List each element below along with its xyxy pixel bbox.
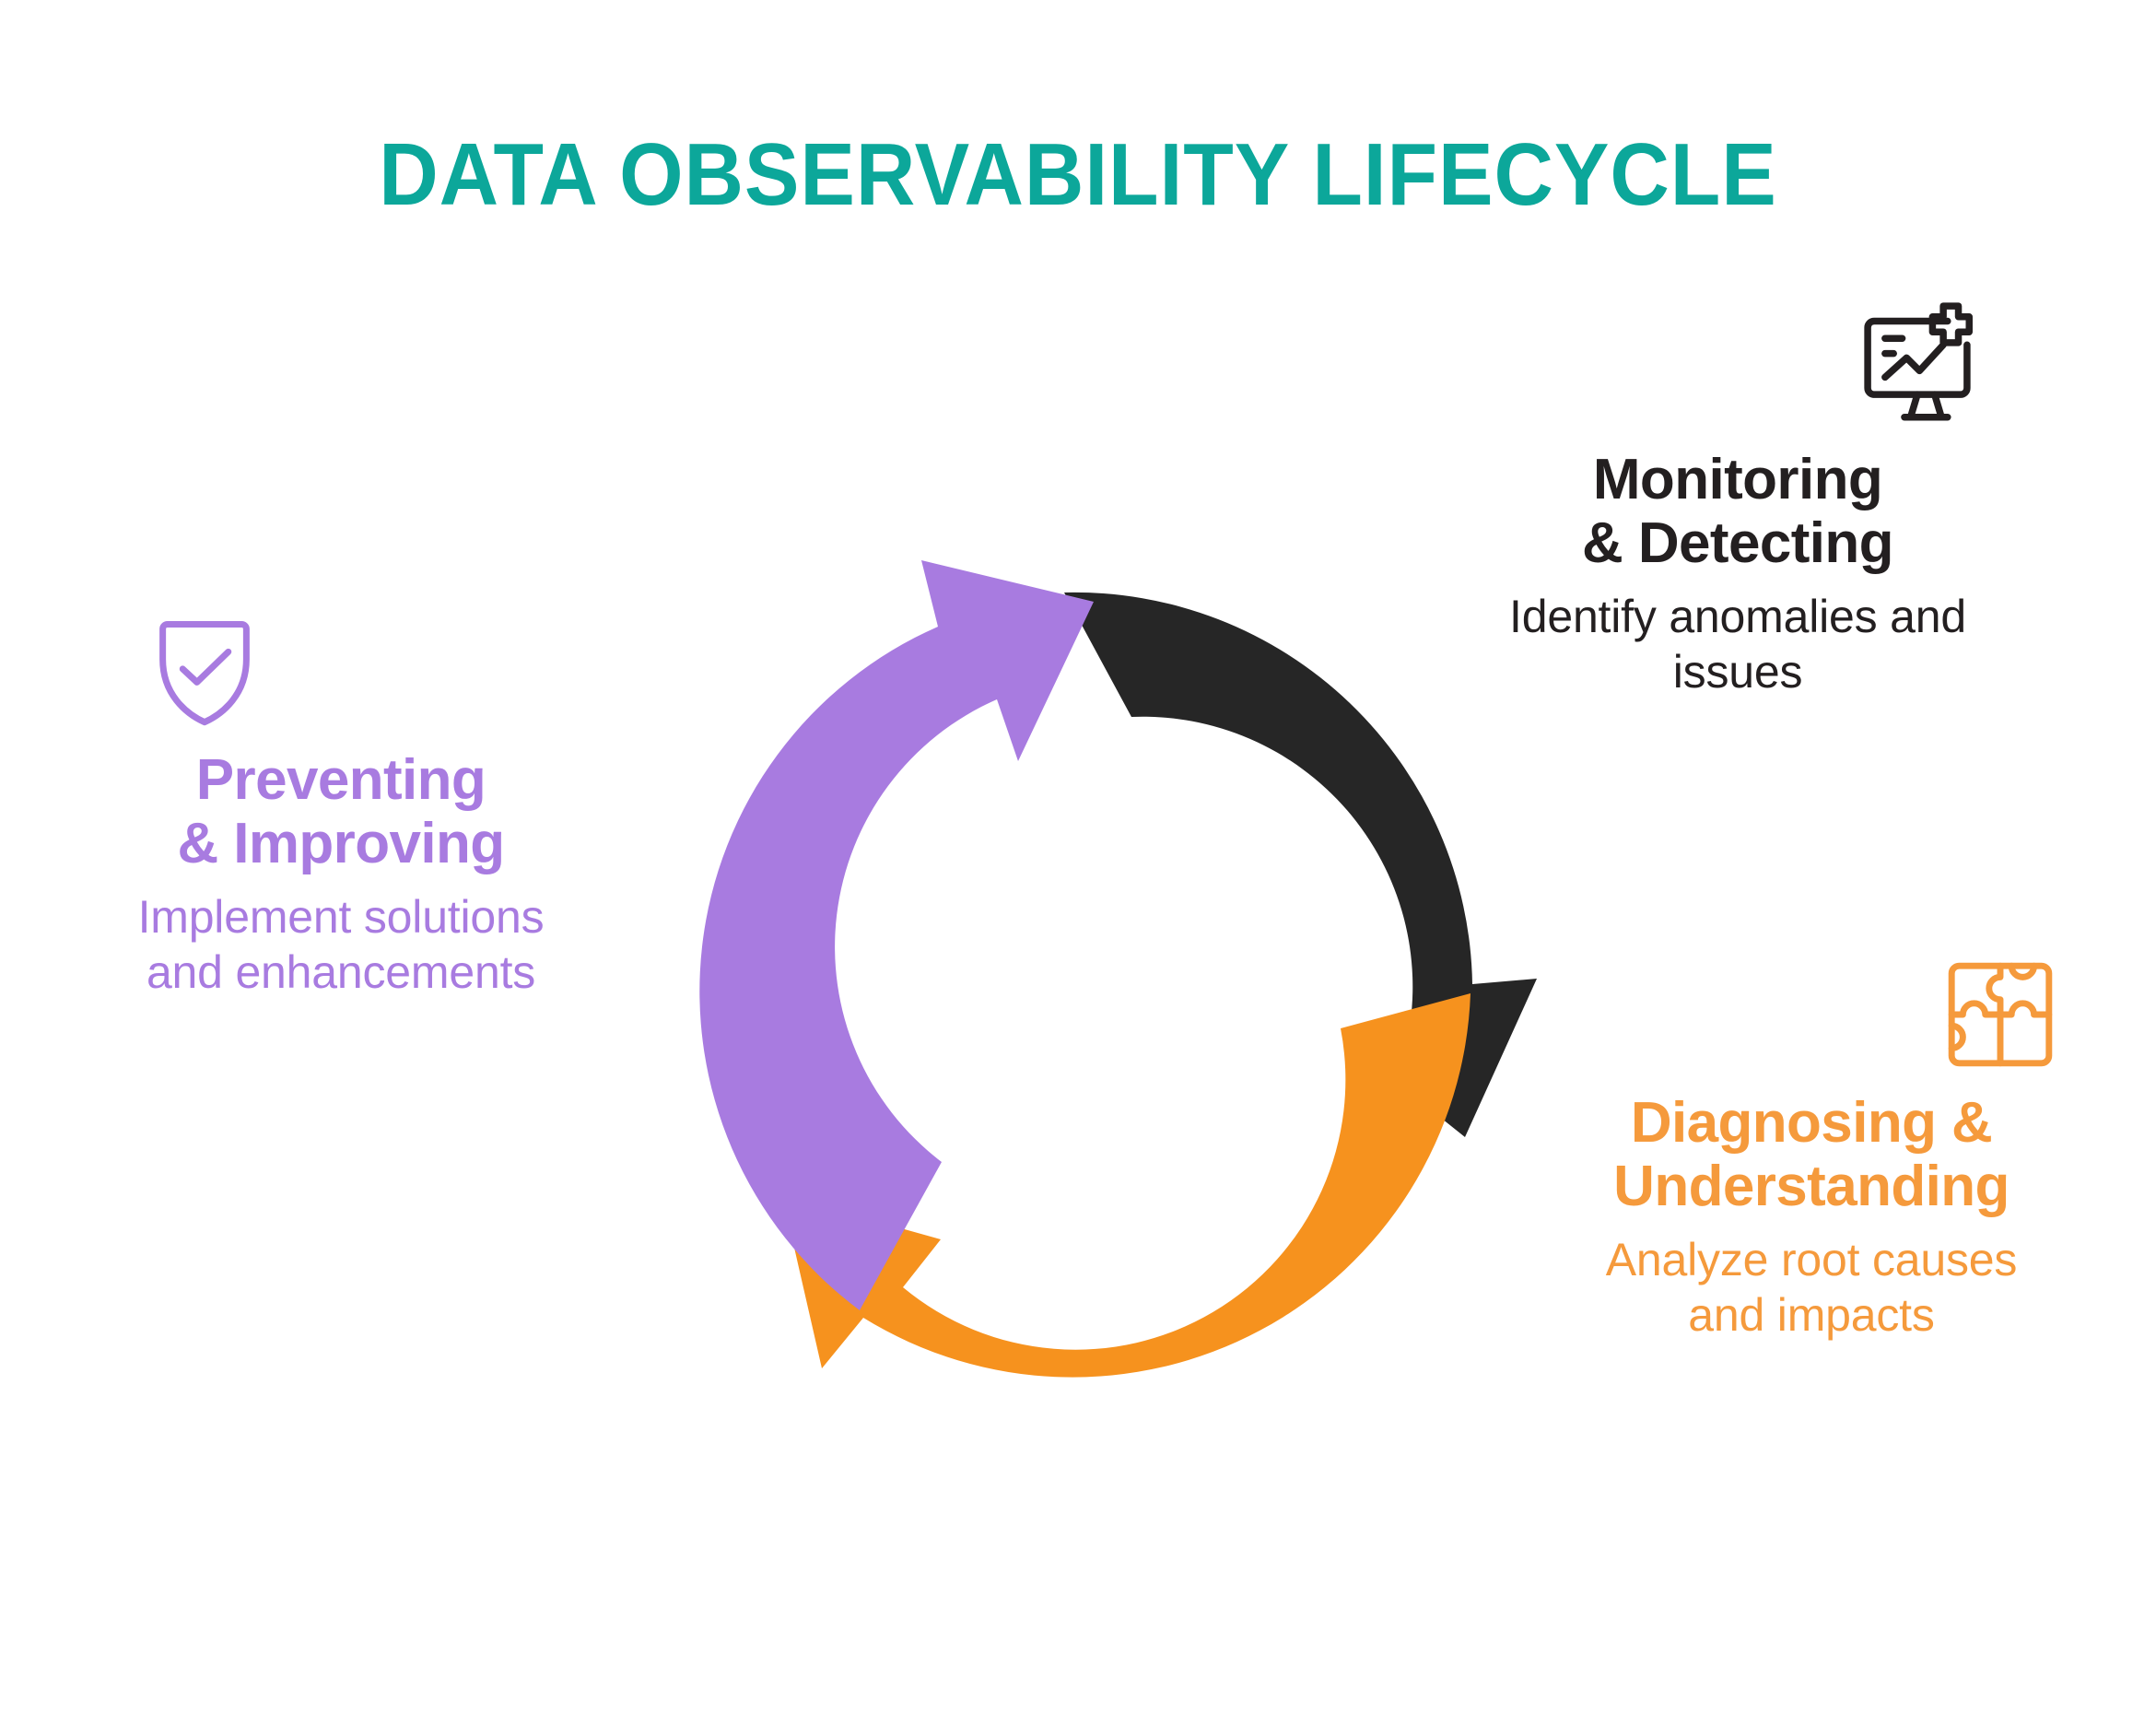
stage-preventing-heading: Preventing & Improving — [101, 748, 580, 876]
stage-preventing-heading-line2: & Improving — [177, 812, 504, 875]
stage-diagnosing-description: Analyze root causes and impacts — [1563, 1232, 2060, 1343]
lifecycle-cycle-diagram — [615, 530, 1537, 1451]
stage-monitoring-description: Identify anomalies and issues — [1489, 589, 1986, 699]
stage-monitoring-heading-line2: & Detecting — [1582, 511, 1893, 575]
stage-monitoring: Monitoring & Detecting Identify anomalie… — [1489, 293, 1986, 699]
stage-preventing-description: Implement solutions and enhancements — [101, 889, 580, 1000]
monitor-chart-plus-icon — [1848, 293, 1986, 431]
preventing-arrow-segment — [699, 560, 1094, 1310]
puzzle-pieces-icon — [1940, 955, 2060, 1074]
infographic-canvas: DATA OBSERVABILITY LIFECYCLE — [0, 0, 2156, 1725]
preventing-icon-wrap — [101, 610, 623, 732]
monitoring-icon-wrap — [1489, 293, 2117, 431]
stage-preventing: Preventing & Improving Implement solutio… — [101, 610, 580, 1000]
stage-monitoring-heading: Monitoring & Detecting — [1489, 448, 1986, 576]
stage-diagnosing: Diagnosing & Understanding Analyze root … — [1563, 955, 2060, 1343]
page-title: DATA OBSERVABILITY LIFECYCLE — [76, 131, 2080, 219]
stage-preventing-heading-line1: Preventing — [196, 748, 486, 812]
shield-check-icon — [144, 610, 265, 732]
stage-diagnosing-heading: Diagnosing & Understanding — [1563, 1091, 2060, 1219]
stage-monitoring-heading-line1: Monitoring — [1593, 448, 1882, 511]
stage-diagnosing-heading-line1: Diagnosing & — [1631, 1091, 1992, 1155]
diagnosing-icon-wrap — [1563, 955, 2156, 1074]
stage-diagnosing-heading-line2: Understanding — [1613, 1155, 2010, 1218]
monitoring-arrow-segment — [1064, 593, 1537, 1137]
